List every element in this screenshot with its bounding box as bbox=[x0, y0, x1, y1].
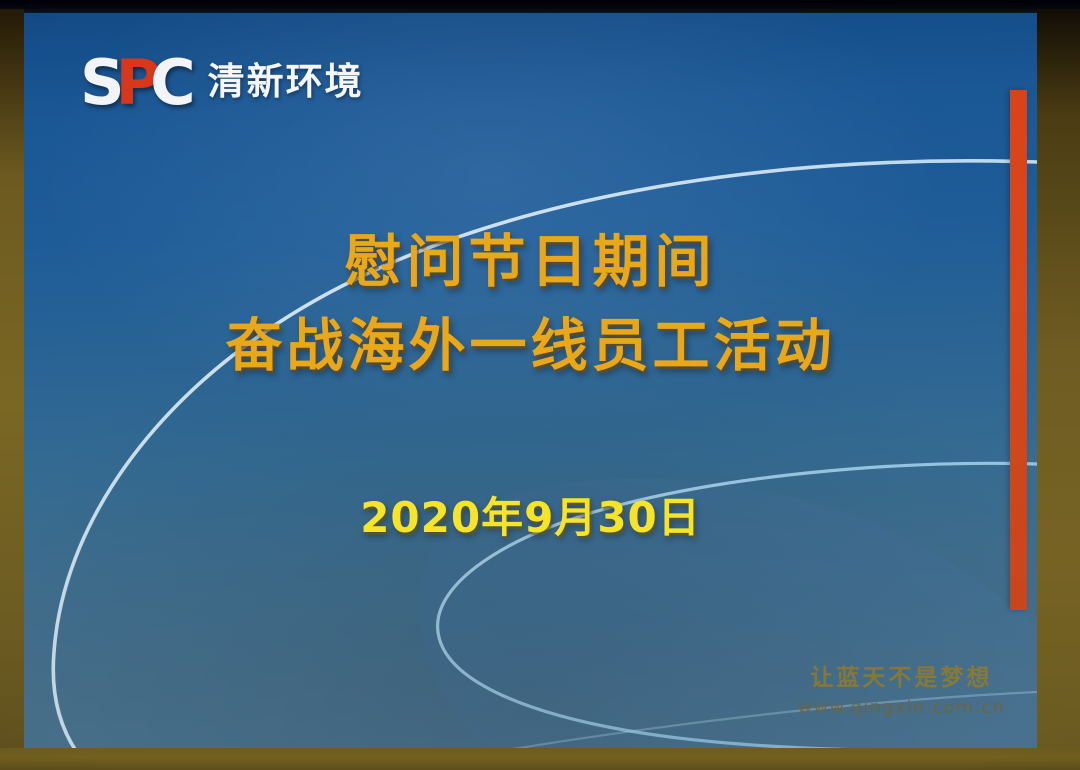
footer-slogan: 让蓝天不是梦想 bbox=[798, 663, 1005, 694]
slide-footer: 让蓝天不是梦想 www.qingxin.com.cn bbox=[798, 663, 1005, 718]
frame-band-right bbox=[1037, 9, 1080, 770]
logo-letter-c: C bbox=[150, 46, 192, 119]
photographed-slide-frame: SPC 清新环境 慰问节日期间 奋战海外一线员工活动 2020年9月30日 让蓝… bbox=[0, 0, 1080, 770]
company-logo: SPC 清新环境 bbox=[80, 52, 364, 114]
footer-website-url: www.qingxin.com.cn bbox=[798, 697, 1005, 718]
slide-title-block: 慰问节日期间 奋战海外一线员工活动 bbox=[24, 220, 1037, 389]
presentation-slide: SPC 清新环境 慰问节日期间 奋战海外一线员工活动 2020年9月30日 让蓝… bbox=[24, 12, 1037, 752]
slide-title-line-2: 奋战海外一线员工活动 bbox=[24, 304, 1037, 388]
slide-title-line-1: 慰问节日期间 bbox=[24, 220, 1037, 304]
logo-mark-spc: SPC bbox=[80, 52, 192, 114]
slide-event-date: 2020年9月30日 bbox=[24, 484, 1037, 545]
frame-band-top bbox=[0, 0, 1080, 13]
frame-band-bottom bbox=[0, 748, 1080, 770]
company-name-chinese: 清新环境 bbox=[208, 63, 364, 103]
frame-band-left bbox=[0, 9, 24, 770]
logo-letter-s: S bbox=[80, 46, 121, 119]
